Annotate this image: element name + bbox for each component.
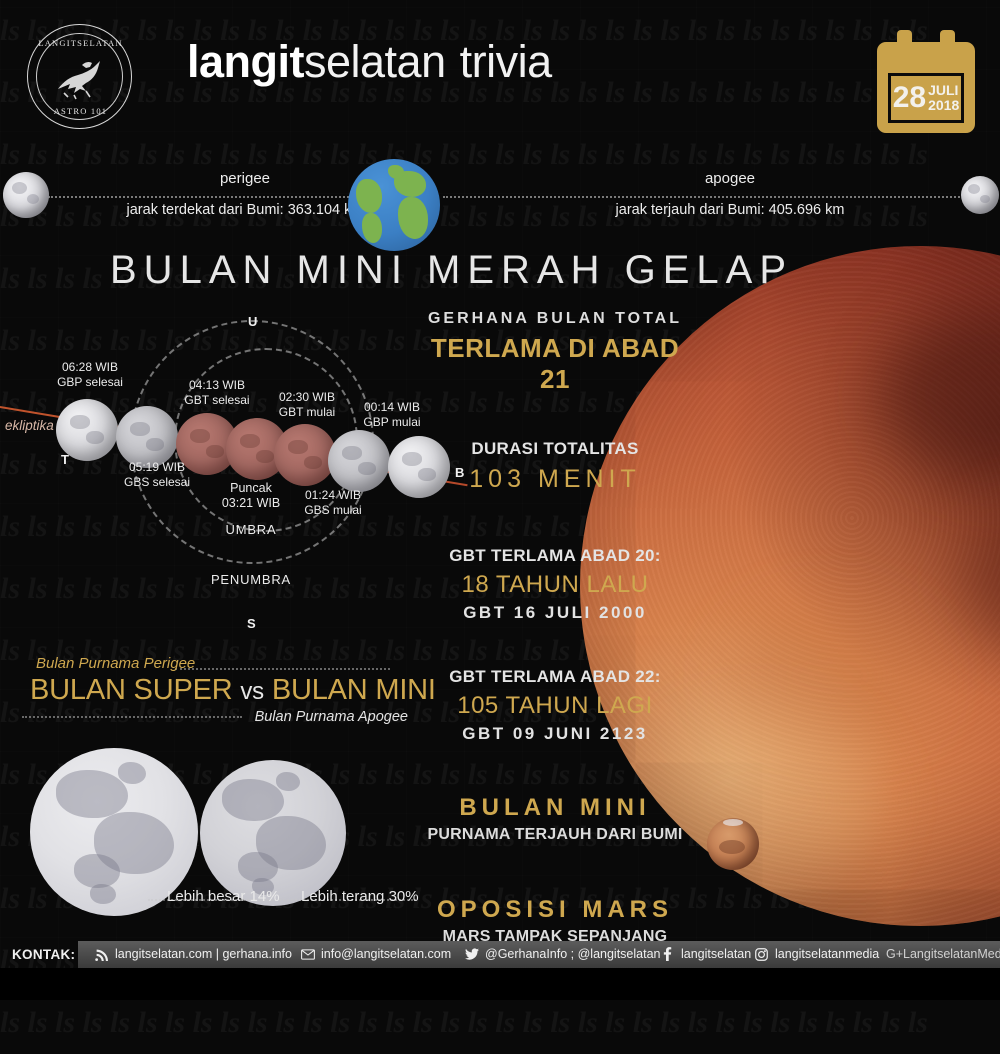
moon-mare bbox=[56, 770, 128, 818]
apogee-distance: jarak terjauh dari Bumi: 405.696 km bbox=[560, 202, 900, 218]
peak-time: 03:21 WIB bbox=[196, 496, 306, 511]
contact-facebook-text: langitselatan bbox=[681, 947, 751, 961]
minimoon-title: BULAN MINI bbox=[415, 794, 695, 822]
comparison-heading-left: BULAN SUPER bbox=[30, 674, 232, 706]
umbra-label: UMBRA bbox=[196, 522, 306, 537]
contact-instagram-text: langitselatanmedia bbox=[775, 947, 879, 961]
eclipse-kicker: GERHANA BULAN TOTAL bbox=[415, 310, 695, 328]
eclipse-moon-phase-4 bbox=[274, 424, 336, 486]
minimoon-subtitle: PURNAMA TERJAUH DARI BUMI bbox=[415, 826, 695, 844]
moon-mare bbox=[74, 854, 120, 888]
comparison-vs: vs bbox=[240, 678, 264, 705]
comparison-top-caption: Bulan Purnama Perigee bbox=[20, 655, 420, 672]
contact-email-text: info@langitselatan.com bbox=[321, 947, 451, 961]
footer-background bbox=[0, 968, 1000, 1000]
brand-bold: langit bbox=[187, 36, 304, 87]
peak-label: Puncak bbox=[196, 481, 306, 496]
page-title: langitselatantrivia bbox=[187, 36, 552, 88]
earth-landmass bbox=[398, 197, 428, 239]
moon-icon-perigee bbox=[3, 172, 49, 218]
eclipse-facts-column: GERHANA BULAN TOTAL TERLAMA DI ABAD 21 D… bbox=[415, 310, 695, 964]
moon-icon-apogee bbox=[961, 176, 999, 214]
moon-mare bbox=[980, 195, 990, 203]
calendar-icon: 28 JULI 2018 bbox=[877, 30, 975, 133]
contact-googleplus-text: G+LangitselatanMedia bbox=[886, 947, 1000, 961]
fact-block-duration: DURASI TOTALITAS 103 MENIT bbox=[415, 439, 695, 494]
envelope-icon bbox=[300, 947, 315, 961]
fact-block-minimoon: BULAN MINI PURNAMA TERJAUH DARI BUMI bbox=[415, 794, 695, 844]
comparison-heading-right: BULAN MINI bbox=[272, 674, 436, 706]
mars-title: OPOSISI MARS bbox=[415, 896, 695, 924]
eclipse-moon-phase-2 bbox=[116, 406, 178, 468]
mars-dark-region bbox=[719, 840, 745, 854]
c20-date: GBT 16 JULI 2000 bbox=[415, 603, 695, 623]
eclipse-headline: TERLAMA DI ABAD 21 bbox=[415, 333, 695, 395]
contact-item-email[interactable]: info@langitselatan.com bbox=[300, 947, 451, 961]
logo-top-text: LANGITSELATAN bbox=[28, 38, 133, 48]
stat-size-label: Lebih besar 14% bbox=[167, 888, 280, 905]
calendar-month: JULI bbox=[928, 83, 959, 98]
brand-trivia: trivia bbox=[460, 36, 552, 87]
mark-south: S bbox=[247, 616, 256, 631]
contact-website-text: langitselatan.com | gerhana.info bbox=[115, 947, 292, 961]
phase-2-time: 05:19 WIB bbox=[97, 460, 217, 475]
orbit-distance-band: perigee jarak terdekat dari Bumi: 363.10… bbox=[0, 152, 1000, 248]
apogee-title: apogee bbox=[560, 170, 900, 187]
contact-footer: KONTAK: langitselatan.com | gerhana.info… bbox=[0, 941, 1000, 968]
c22-label: GBT TERLAMA ABAD 22: bbox=[415, 667, 695, 687]
brand-light: selatan bbox=[304, 36, 446, 87]
horse-rider-seal-icon bbox=[52, 55, 110, 101]
instagram-icon bbox=[754, 947, 769, 961]
main-headline: BULAN MINI MERAH GELAP bbox=[110, 248, 793, 293]
moon-mare bbox=[90, 884, 116, 904]
penumbra-label: PENUMBRA bbox=[186, 572, 316, 587]
logo-bottom-text: ASTRO 101 bbox=[28, 106, 133, 116]
fact-block-headline: GERHANA BULAN TOTAL TERLAMA DI ABAD 21 bbox=[415, 310, 695, 395]
ecliptic-label: ekliptika bbox=[5, 418, 54, 433]
duration-label: DURASI TOTALITAS bbox=[415, 439, 695, 459]
duration-value: 103 MENIT bbox=[415, 465, 695, 494]
contact-item-twitter[interactable]: @GerhanaInfo ; @langitselatan bbox=[464, 947, 660, 961]
earth-globe-icon bbox=[348, 159, 440, 251]
calendar-month-year: JULI 2018 bbox=[928, 83, 959, 112]
fact-block-century-20: GBT TERLAMA ABAD 20: 18 TAHUN LALU GBT 1… bbox=[415, 546, 695, 623]
earth-landmass bbox=[388, 165, 404, 179]
contact-item-facebook[interactable]: langitselatan bbox=[660, 947, 751, 961]
mark-east: T bbox=[61, 452, 69, 467]
moon-mare bbox=[222, 779, 284, 821]
twitter-icon bbox=[464, 947, 479, 961]
calendar-screen: 28 JULI 2018 bbox=[888, 73, 964, 123]
contact-twitter-text: @GerhanaInfo ; @langitselatan bbox=[485, 947, 660, 961]
eclipse-moon-phase-5 bbox=[328, 430, 390, 492]
earth-landmass bbox=[362, 213, 382, 243]
apogee-label-group: apogee jarak terjauh dari Bumi: 405.696 … bbox=[560, 170, 900, 218]
phase-1-time: 06:28 WIB bbox=[30, 360, 150, 375]
calendar-year: 2018 bbox=[928, 98, 959, 113]
mark-north: U bbox=[248, 314, 257, 329]
stat-brightness-label: Lebih terang 30% bbox=[301, 888, 419, 905]
peak-label-group: Puncak 03:21 WIB bbox=[196, 481, 306, 511]
calendar-date-group: 28 JULI 2018 bbox=[891, 76, 961, 120]
rss-icon bbox=[94, 947, 109, 961]
moon-mare bbox=[118, 762, 146, 784]
fact-block-century-22: GBT TERLAMA ABAD 22: 105 TAHUN LAGI GBT … bbox=[415, 667, 695, 744]
moon-mare bbox=[968, 184, 980, 194]
comparison-heading: BULAN SUPER vs BULAN MINI bbox=[20, 674, 420, 707]
moon-mare bbox=[12, 182, 27, 194]
contact-item-website[interactable]: langitselatan.com | gerhana.info bbox=[94, 947, 292, 961]
contact-item-instagram[interactable]: langitselatanmedia bbox=[754, 947, 879, 961]
minimoon-image bbox=[200, 760, 346, 906]
c22-value: 105 TAHUN LAGI bbox=[415, 692, 695, 720]
perigee-title: perigee bbox=[95, 170, 395, 187]
calendar-body: 28 JULI 2018 bbox=[877, 42, 975, 133]
earth-landmass bbox=[356, 179, 382, 213]
moon-mare bbox=[276, 772, 300, 791]
page-header: LANGITSELATAN ASTRO 101 langitselatantri… bbox=[0, 0, 1000, 150]
mars-planet-image bbox=[707, 818, 759, 870]
eclipse-path-diagram: 06:28 WIB GBP selesai 05:19 WIB GBS sele… bbox=[0, 300, 470, 650]
mars-polar-cap bbox=[723, 819, 743, 826]
supermoon-vs-minimoon-section: Bulan Purnama Perigee BULAN SUPER vs BUL… bbox=[20, 655, 420, 725]
contact-item-googleplus[interactable]: G+LangitselatanMedia bbox=[886, 947, 1000, 961]
phase-label-1: 06:28 WIB GBP selesai bbox=[30, 360, 150, 390]
c22-date: GBT 09 JUNI 2123 bbox=[415, 724, 695, 744]
c20-value: 18 TAHUN LALU bbox=[415, 571, 695, 599]
c20-label: GBT TERLAMA ABAD 20: bbox=[415, 546, 695, 566]
phase-1-event: GBP selesai bbox=[30, 375, 150, 390]
comparison-bottom-caption: Bulan Purnama Apogee bbox=[20, 709, 420, 725]
facebook-icon bbox=[660, 947, 675, 961]
contact-label: KONTAK: bbox=[12, 947, 75, 962]
moon-mare bbox=[27, 194, 39, 204]
calendar-day: 28 bbox=[893, 83, 926, 113]
langitselatan-logo: LANGITSELATAN ASTRO 101 bbox=[27, 24, 132, 129]
